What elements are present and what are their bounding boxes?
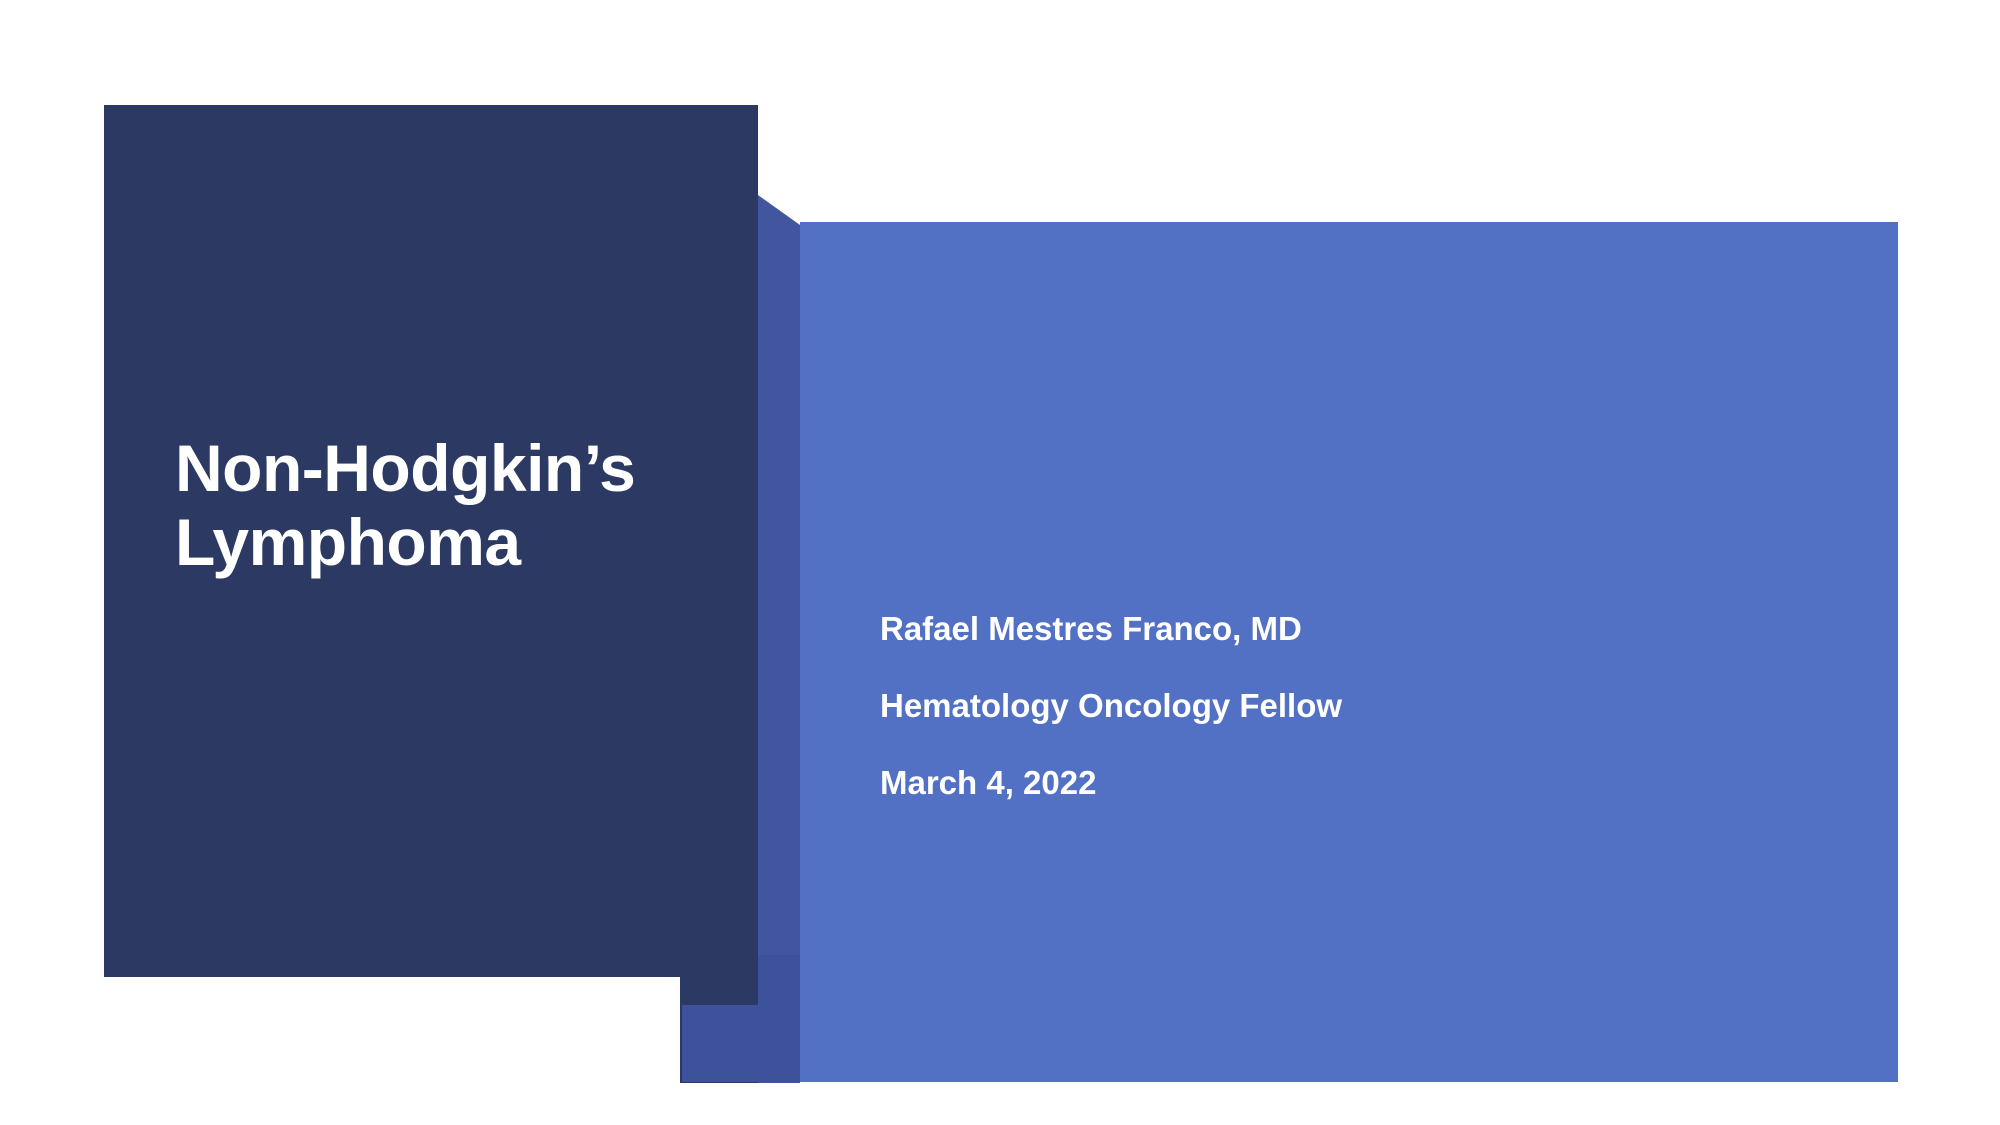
presentation-date: March 4, 2022 bbox=[880, 766, 1640, 799]
presenter-role: Hematology Oncology Fellow bbox=[880, 689, 1640, 722]
slide-title: Non-Hodgkin’s Lymphoma bbox=[175, 432, 715, 580]
ribbon-bottom-fold bbox=[660, 955, 900, 1115]
presenter-name: Rafael Mestres Franco, MD bbox=[880, 612, 1640, 645]
fold-upper-wedge bbox=[758, 195, 800, 1083]
subtitle-block: Rafael Mestres Franco, MD Hematology Onc… bbox=[880, 612, 1640, 799]
title-slide: Non-Hodgkin’s Lymphoma Rafael Mestres Fr… bbox=[0, 0, 2000, 1125]
